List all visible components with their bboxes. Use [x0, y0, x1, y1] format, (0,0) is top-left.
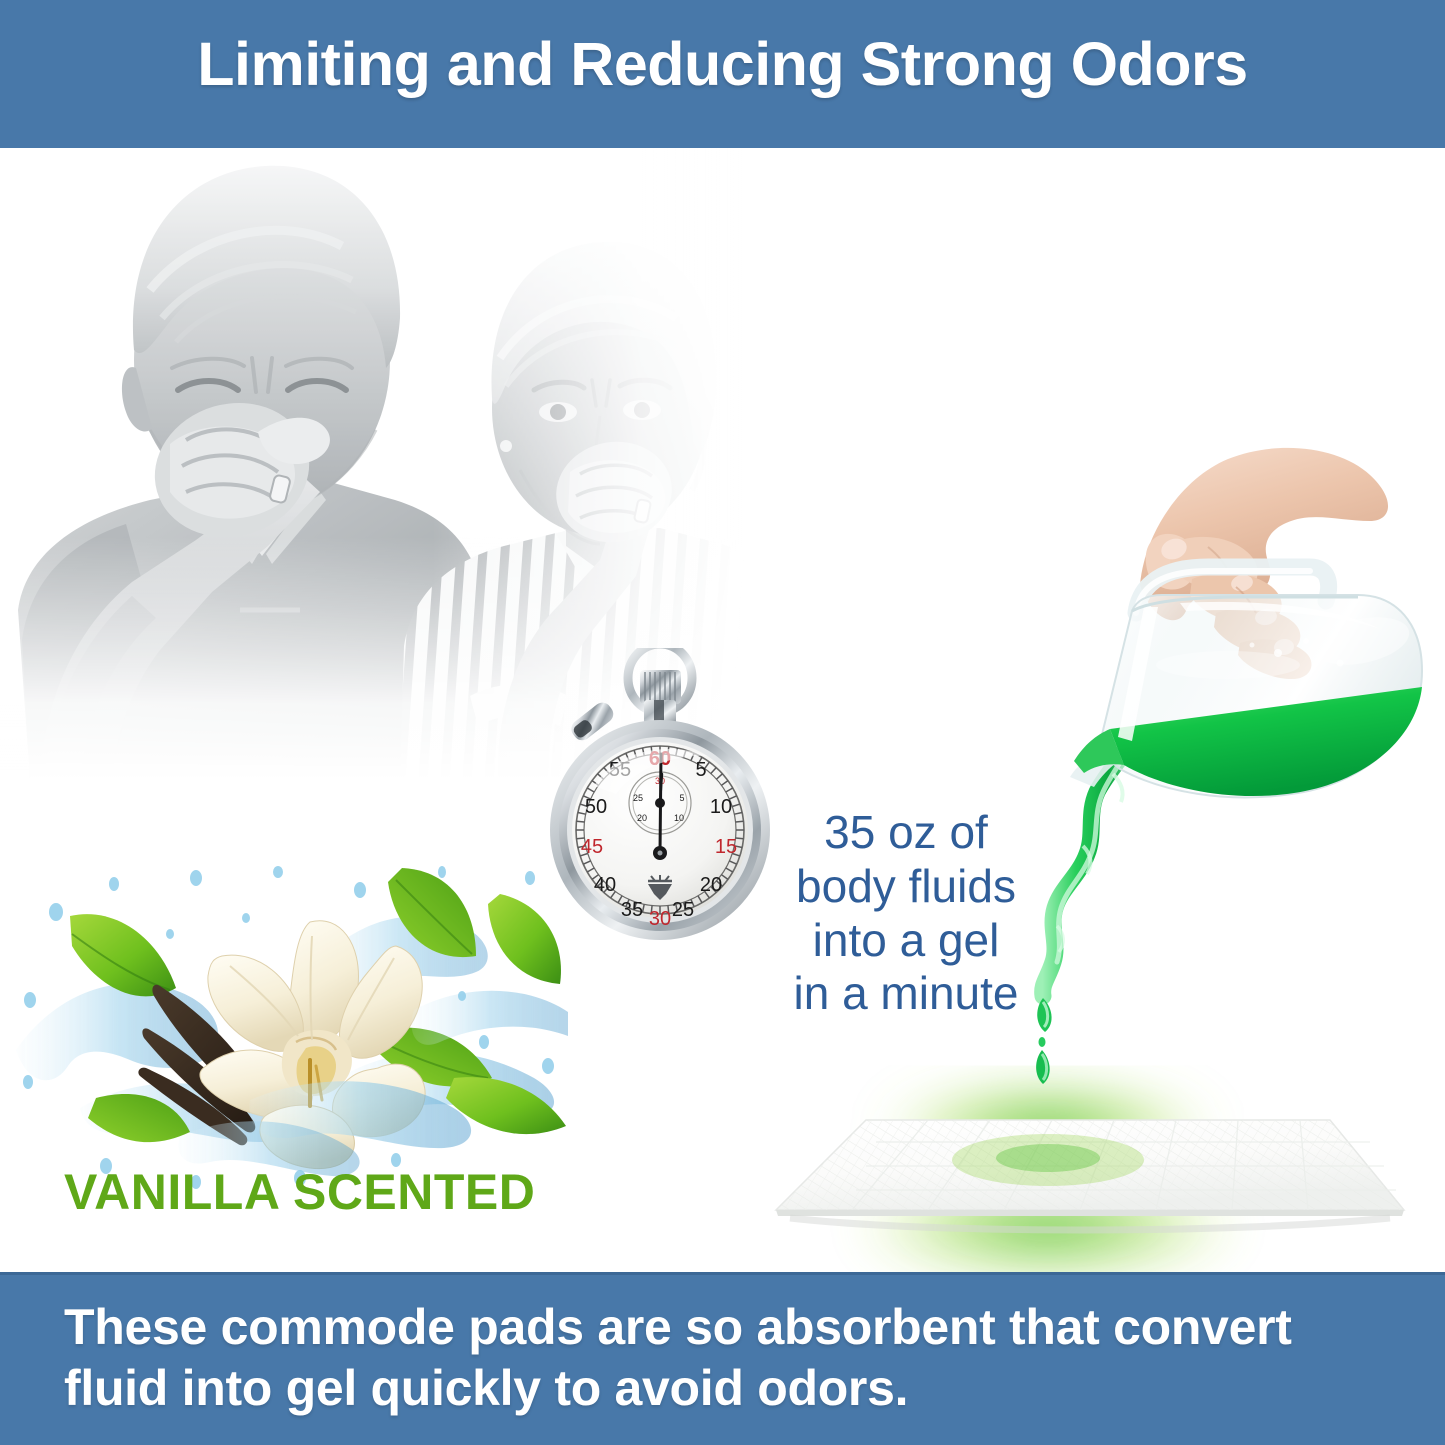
stopwatch-icon: 60 5 10 15 20 25 30 35 40 45 50 55 30 5	[532, 648, 788, 948]
svg-text:50: 50	[585, 796, 607, 818]
svg-text:40: 40	[594, 874, 616, 896]
svg-text:15: 15	[715, 836, 737, 858]
svg-text:10: 10	[710, 796, 732, 818]
stopwatch-crown	[628, 648, 692, 724]
claim-line-3: into a gel	[768, 914, 1044, 968]
vanilla-flower-splash	[10, 860, 570, 1190]
svg-text:25: 25	[633, 793, 643, 803]
svg-text:10: 10	[674, 813, 684, 823]
svg-text:5: 5	[695, 759, 706, 781]
svg-text:20: 20	[700, 874, 722, 896]
svg-text:30: 30	[649, 908, 671, 930]
claim-line-4: in a minute	[768, 967, 1044, 1021]
claim-line-2: body fluids	[768, 860, 1044, 914]
footer-line-1: These commode pads are so absorbent that…	[64, 1297, 1394, 1358]
claim-line-1: 35 oz of	[768, 806, 1044, 860]
svg-text:25: 25	[672, 899, 694, 921]
svg-text:35: 35	[621, 899, 643, 921]
vanilla-scented-label: VANILLA SCENTED	[64, 1163, 535, 1221]
product-infographic: VANILLA SCENTED	[0, 0, 1445, 1445]
footer-line-2: fluid into gel quickly to avoid odors.	[64, 1358, 1394, 1419]
svg-text:5: 5	[679, 793, 684, 803]
claim-text: 35 oz of body fluids into a gel in a min…	[768, 806, 1044, 1021]
page-title: Limiting and Reducing Strong Odors	[0, 34, 1445, 95]
top-banner: Limiting and Reducing Strong Odors	[0, 0, 1445, 148]
hand-holding-pitcher	[1040, 415, 1445, 855]
bottom-banner: These commode pads are so absorbent that…	[0, 1272, 1445, 1445]
footer-text: These commode pads are so absorbent that…	[64, 1297, 1394, 1419]
pitcher-body	[1070, 595, 1422, 797]
svg-text:45: 45	[581, 836, 603, 858]
svg-text:20: 20	[637, 813, 647, 823]
